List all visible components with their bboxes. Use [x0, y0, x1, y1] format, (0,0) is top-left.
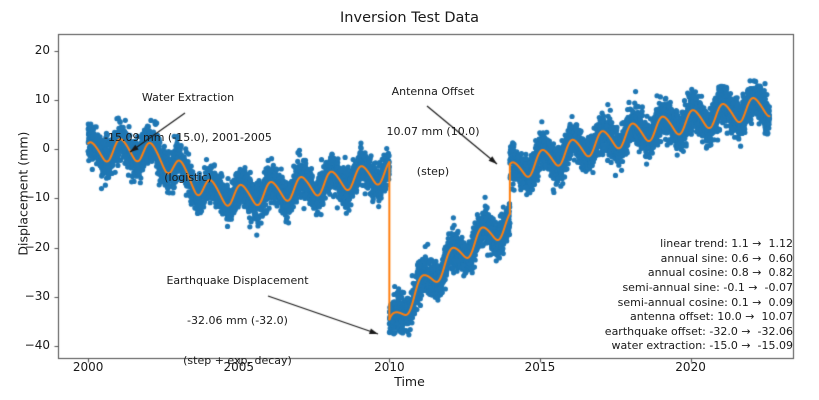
y-axis-tick-label: 0: [6, 141, 50, 156]
parameter-row: antenna offset: 10.0 → 10.07: [605, 310, 793, 325]
parameter-row: semi-annual sine: -0.1 → -0.07: [605, 281, 793, 296]
x-axis-tick-label: 2010: [354, 360, 424, 375]
x-axis-tick-label: 2015: [505, 360, 575, 375]
annotation-water-extraction: Water Extraction -15.09 mm (-15.0), 2001…: [62, 64, 314, 211]
y-axis-tick-label: 20: [6, 43, 50, 58]
x-axis-tick-label: 2020: [656, 360, 726, 375]
x-axis-tick-label: 2000: [53, 360, 123, 375]
y-axis-tick-label: −40: [6, 338, 50, 353]
x-axis-tick-label: 2005: [204, 360, 274, 375]
annotation-earthquake-line1: Earthquake Displacement: [120, 274, 355, 287]
parameter-row: annual cosine: 0.8 → 0.82: [605, 266, 793, 281]
figure-canvas-container: Inversion Test Data Displacement (mm) Ti…: [0, 0, 819, 400]
parameter-row: semi-annual cosine: 0.1 → 0.09: [605, 296, 793, 311]
parameter-row: linear trend: 1.1 → 1.12: [605, 237, 793, 252]
annotation-antenna-offset-line3: (step): [333, 165, 533, 178]
annotation-water-extraction-line2: -15.09 mm (-15.0), 2001-2005: [62, 131, 314, 144]
annotation-water-extraction-line3: (logistic): [62, 171, 314, 184]
annotation-water-extraction-line1: Water Extraction: [62, 91, 314, 104]
annotation-antenna-offset: Antenna Offset 10.07 mm (10.0) (step): [333, 58, 533, 205]
parameter-row: earthquake offset: -32.0 → -32.06: [605, 325, 793, 340]
parameter-row: annual sine: 0.6 → 0.60: [605, 252, 793, 267]
page-title: Inversion Test Data: [0, 10, 819, 28]
y-axis-tick-label: −20: [6, 240, 50, 255]
y-axis-tick-label: 10: [6, 92, 50, 107]
annotation-earthquake-line2: -32.06 mm (-32.0): [120, 314, 355, 327]
y-axis-tick-label: −10: [6, 190, 50, 205]
annotation-antenna-offset-line1: Antenna Offset: [333, 85, 533, 98]
parameter-summary-list: linear trend: 1.1 → 1.12annual sine: 0.6…: [605, 237, 793, 354]
y-axis-tick-label: −30: [6, 289, 50, 304]
parameter-row: water extraction: -15.0 → -15.09: [605, 339, 793, 354]
annotation-antenna-offset-line2: 10.07 mm (10.0): [333, 125, 533, 138]
